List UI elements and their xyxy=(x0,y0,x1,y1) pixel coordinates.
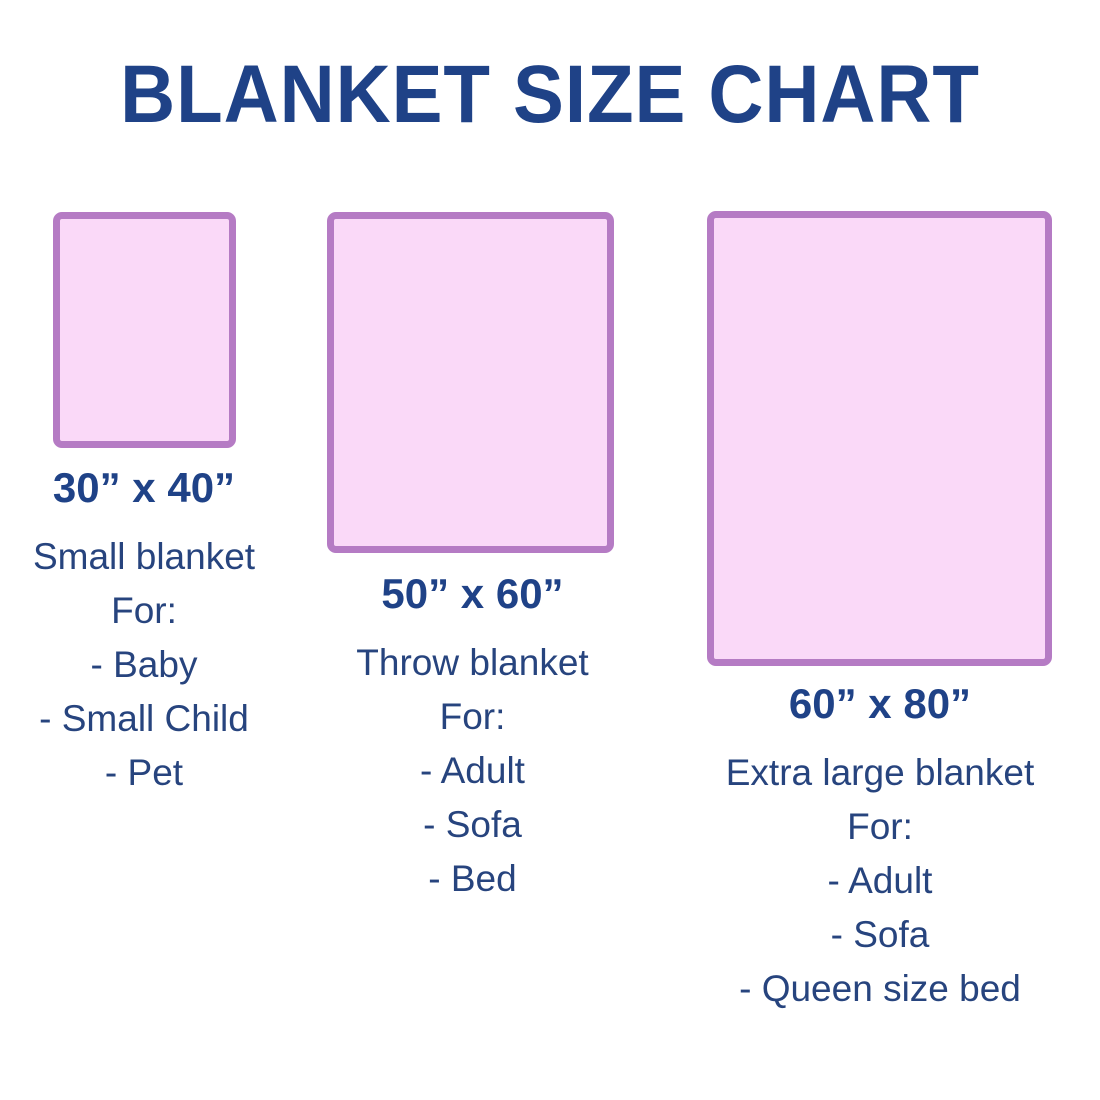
blanket-name-xl: Extra large blanket xyxy=(655,746,1100,800)
use-item: - Sofa xyxy=(655,908,1100,962)
blanket-swatch-throw xyxy=(327,212,614,553)
blanket-swatch-small xyxy=(53,212,236,448)
dimension-label-xl: 60” x 80” xyxy=(655,678,1100,730)
blanket-info-small: 30” x 40” Small blanket For: - Baby - Sm… xyxy=(0,462,294,800)
blanket-swatch-small-wrapper xyxy=(53,212,236,448)
blanket-swatch-xl xyxy=(707,211,1052,666)
blanket-name-throw: Throw blanket xyxy=(300,636,645,690)
blanket-name-small: Small blanket xyxy=(0,530,294,584)
blanket-size-chart: BLANKET SIZE CHART 30” x 40” Small blank… xyxy=(0,0,1100,1100)
use-item: - Bed xyxy=(300,852,645,906)
use-list-xl: - Adult - Sofa - Queen size bed xyxy=(655,854,1100,1016)
size-columns: 30” x 40” Small blanket For: - Baby - Sm… xyxy=(0,0,1100,1100)
use-item: - Pet xyxy=(0,746,294,800)
use-list-small: - Baby - Small Child - Pet xyxy=(0,638,294,800)
blanket-info-xl: 60” x 80” Extra large blanket For: - Adu… xyxy=(655,678,1100,1016)
blanket-swatch-xl-wrapper xyxy=(707,211,1052,666)
use-item: - Queen size bed xyxy=(655,962,1100,1016)
dimension-label-small: 30” x 40” xyxy=(0,462,294,514)
for-label-throw: For: xyxy=(300,690,645,744)
use-item: - Baby xyxy=(0,638,294,692)
for-label-xl: For: xyxy=(655,800,1100,854)
blanket-swatch-throw-wrapper xyxy=(327,212,614,553)
for-label-small: For: xyxy=(0,584,294,638)
dimension-label-throw: 50” x 60” xyxy=(300,568,645,620)
use-item: - Adult xyxy=(655,854,1100,908)
use-item: - Adult xyxy=(300,744,645,798)
use-item: - Sofa xyxy=(300,798,645,852)
blanket-info-throw: 50” x 60” Throw blanket For: - Adult - S… xyxy=(300,568,645,906)
use-item: - Small Child xyxy=(0,692,294,746)
use-list-throw: - Adult - Sofa - Bed xyxy=(300,744,645,906)
